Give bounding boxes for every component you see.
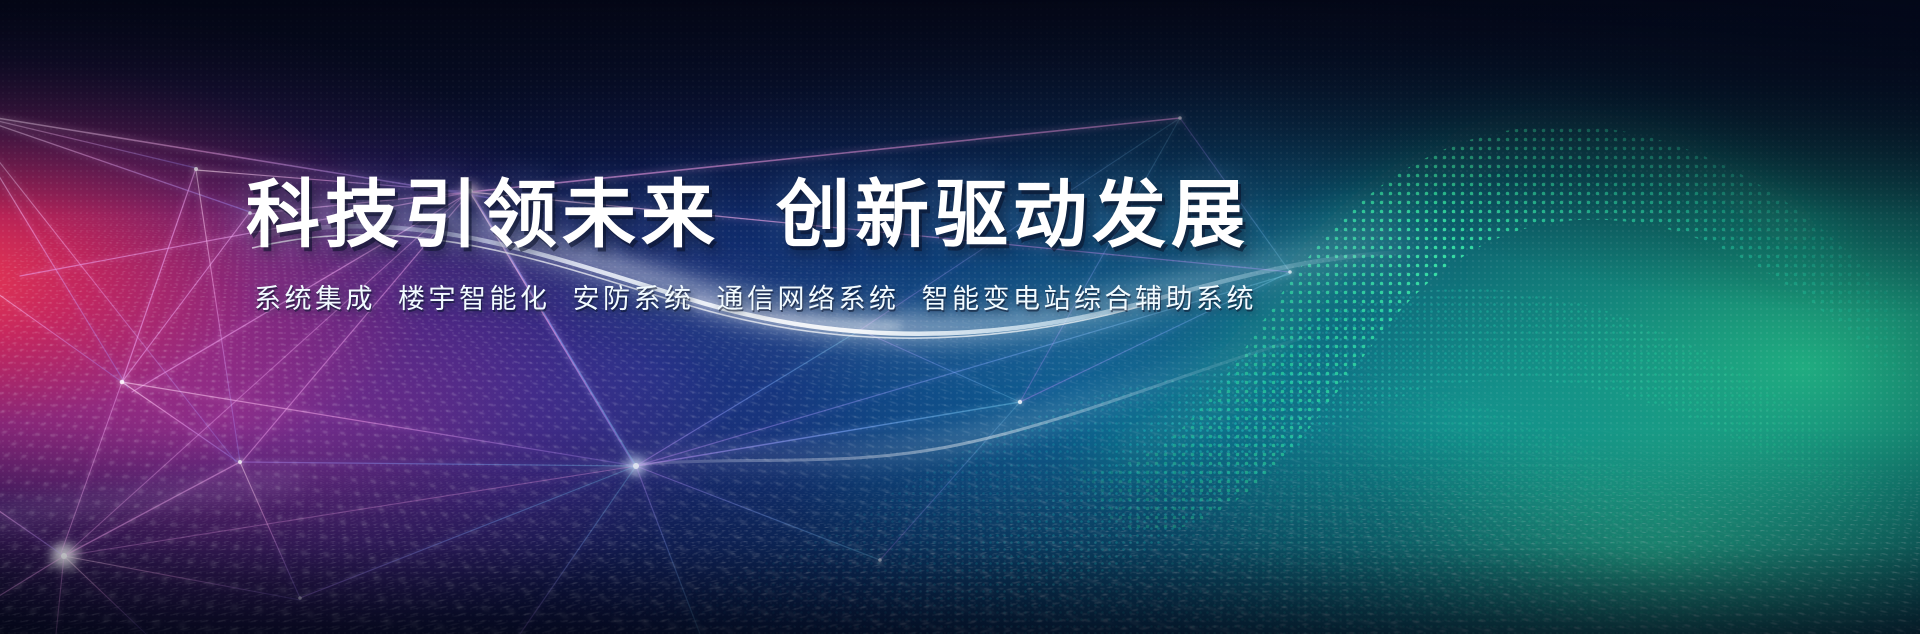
banner-headline: 科技引领未来创新驱动发展 xyxy=(246,178,1666,252)
subtitle-item-1: 楼宇智能化 xyxy=(398,284,551,315)
subtitle-item-4: 智能变电站综合辅助系统 xyxy=(922,284,1258,315)
tech-hero-banner: 科技引领未来创新驱动发展 系统集成楼宇智能化安防系统通信网络系统智能变电站综合辅… xyxy=(0,0,1920,634)
headline-part-1: 科技引领未来 xyxy=(246,172,720,258)
banner-copy-block: 科技引领未来创新驱动发展 系统集成楼宇智能化安防系统通信网络系统智能变电站综合辅… xyxy=(246,178,1666,313)
vignette-top-right xyxy=(0,0,1920,634)
subtitle-item-2: 安防系统 xyxy=(573,284,695,315)
headline-part-2: 创新驱动发展 xyxy=(776,172,1250,258)
banner-subtitle: 系统集成楼宇智能化安防系统通信网络系统智能变电站综合辅助系统 xyxy=(254,286,1666,313)
subtitle-item-0: 系统集成 xyxy=(254,284,376,315)
subtitle-item-3: 通信网络系统 xyxy=(717,284,900,315)
